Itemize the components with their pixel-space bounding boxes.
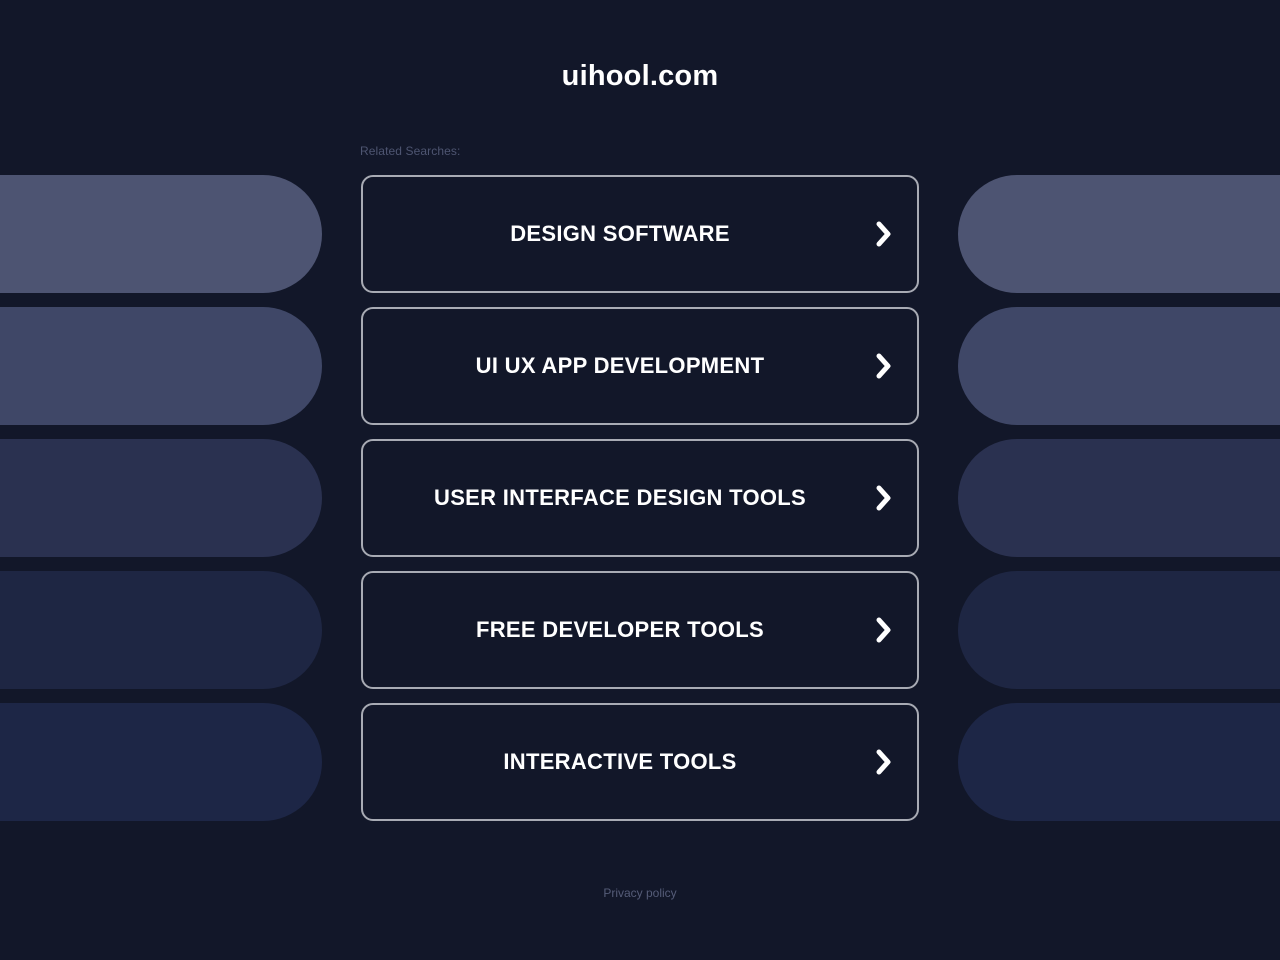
related-searches-list: DESIGN SOFTWAREUI UX APP DEVELOPMENTUSER… [361,175,919,821]
related-search-card-label: USER INTERFACE DESIGN TOOLS [418,485,862,511]
related-search-card-label: UI UX APP DEVELOPMENT [460,353,821,379]
page-root: uihool.com Related Searches: DESIGN SOFT… [0,0,1280,960]
related-search-card-label: INTERACTIVE TOOLS [487,749,792,775]
chevron-right-icon [872,217,896,251]
chevron-right-icon [872,349,896,383]
related-search-card-label: FREE DEVELOPER TOOLS [460,617,820,643]
related-search-card[interactable]: FREE DEVELOPER TOOLS [361,571,919,689]
related-search-card-label: DESIGN SOFTWARE [494,221,786,247]
related-searches-label: Related Searches: [360,144,460,158]
related-search-card[interactable]: INTERACTIVE TOOLS [361,703,919,821]
chevron-right-icon [872,745,896,779]
page-title: uihool.com [0,60,1280,93]
related-search-card[interactable]: DESIGN SOFTWARE [361,175,919,293]
privacy-policy-link[interactable]: Privacy policy [0,886,1280,900]
related-search-card[interactable]: UI UX APP DEVELOPMENT [361,307,919,425]
related-search-card[interactable]: USER INTERFACE DESIGN TOOLS [361,439,919,557]
chevron-right-icon [872,481,896,515]
chevron-right-icon [872,613,896,647]
